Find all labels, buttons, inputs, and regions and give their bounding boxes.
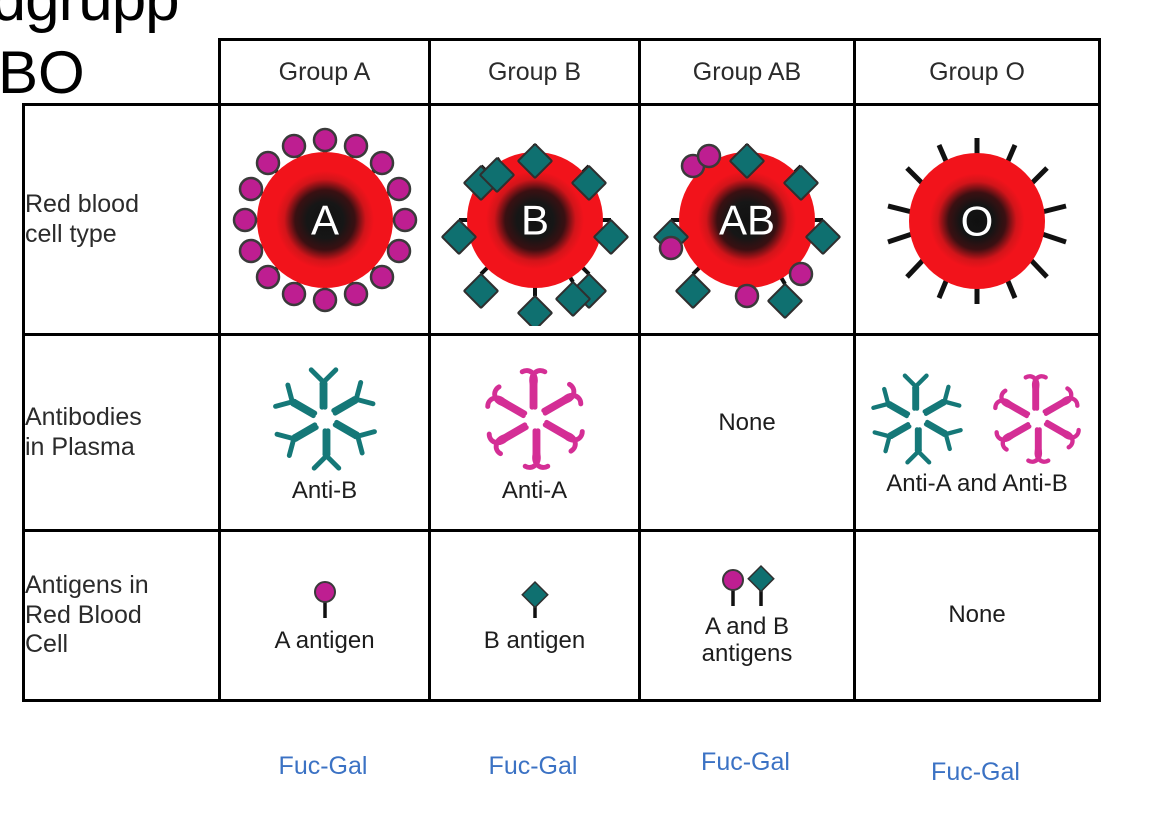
row-label-line1: Red blood [25, 190, 218, 220]
blood-cell-letter-a: A [310, 196, 338, 243]
cell-antibodies-group-a: Anti-B [220, 335, 430, 531]
antibody-pink-cluster-icon [461, 360, 609, 478]
fuc-gal-spacer [22, 752, 218, 781]
blood-cell-letter-o: O [961, 197, 994, 244]
cell-rbc-group-b: B [430, 105, 640, 335]
row-label-line1: Antigens in [25, 571, 218, 601]
page-title-top: Blodgrupp [0, 0, 179, 35]
row-label-line2: in Plasma [25, 433, 218, 463]
row-label-red-blood-cell-type: Red blood cell type [24, 105, 220, 335]
antigen-a-icon [299, 576, 351, 628]
row-label-antigens-in-red-blood-cell: Antigens in Red Blood Cell [24, 531, 220, 701]
cell-antibodies-group-o: Anti-A and Anti-B [855, 335, 1100, 531]
red-blood-cell-ab-icon: AB [645, 114, 849, 326]
red-blood-cell-o-icon: O [877, 114, 1077, 326]
fuc-gal-label-group-b: Fuc-Gal [428, 752, 638, 781]
red-blood-cell-a-icon: A [225, 114, 425, 326]
row-label-line2: cell type [25, 220, 218, 250]
antigen-caption-group-a: A antigen [274, 628, 374, 655]
cell-antigens-group-a: A antigen [220, 531, 430, 701]
table-row: Red blood cell type [24, 105, 1100, 335]
cell-rbc-group-ab: AB [640, 105, 855, 335]
antibody-caption-group-a: Anti-B [292, 478, 357, 505]
table-row: Antigens in Red Blood Cell A antigen [24, 531, 1100, 701]
antibody-caption-group-o: Anti-A and Anti-B [886, 471, 1067, 498]
antigen-caption-line2: antigens [702, 641, 793, 668]
cell-rbc-group-o: O [855, 105, 1100, 335]
table-row: Antibodies in Plasma [24, 335, 1100, 531]
column-header-group-ab: Group AB [640, 40, 855, 105]
antigen-caption-line1: A and B [702, 614, 793, 641]
fuc-gal-label-group-ab: Fuc-Gal [638, 752, 853, 781]
row-label-line2: Red Blood [25, 601, 218, 631]
cell-antibodies-group-b: Anti-A [430, 335, 640, 531]
cell-antigens-group-b: B antigen [430, 531, 640, 701]
blood-cell-letter-b: B [520, 196, 548, 243]
cell-antigens-group-ab: A and B antigens [640, 531, 855, 701]
antigen-b-icon [509, 576, 561, 628]
antigen-caption-group-ab: A and B antigens [702, 614, 793, 668]
row-label-antibodies-in-plasma: Antibodies in Plasma [24, 335, 220, 531]
antibody-caption-group-ab: None [718, 410, 775, 437]
cell-antigens-group-o: None [855, 531, 1100, 701]
row-label-line3: Cell [25, 630, 218, 660]
antigen-caption-group-b: B antigen [484, 628, 585, 655]
antibody-pink-cluster-icon [979, 367, 1095, 471]
column-header-group-b: Group B [430, 40, 640, 105]
fuc-gal-row: Fuc-Gal Fuc-Gal Fuc-Gal Fuc-Gal [22, 752, 1100, 781]
abo-blood-group-chart: Blodgrupp ABO Group A Group B Group AB G… [0, 0, 1150, 828]
antigen-caption-group-o: None [948, 602, 1005, 629]
antibody-caption-group-b: Anti-A [502, 478, 567, 505]
blood-cell-letter-ab: AB [719, 196, 775, 243]
cell-antibodies-group-ab: None [640, 335, 855, 531]
table-corner-cell [24, 40, 220, 105]
fuc-gal-label-group-o: Fuc-Gal [853, 752, 1098, 781]
blood-group-table: Group A Group B Group AB Group O Red blo… [22, 38, 1101, 702]
antibody-teal-cluster-icon [859, 367, 975, 471]
antibody-both-cluster-group [859, 367, 1095, 471]
red-blood-cell-b-icon: B [435, 114, 635, 326]
table-header-row: Group A Group B Group AB Group O [24, 40, 1100, 105]
row-label-line1: Antibodies [25, 403, 218, 433]
column-header-group-a: Group A [220, 40, 430, 105]
fuc-gal-label-group-a: Fuc-Gal [218, 752, 428, 781]
antigen-ab-icon [705, 564, 789, 614]
column-header-group-o: Group O [855, 40, 1100, 105]
cell-rbc-group-a: A [220, 105, 430, 335]
antibody-teal-cluster-icon [251, 360, 399, 478]
